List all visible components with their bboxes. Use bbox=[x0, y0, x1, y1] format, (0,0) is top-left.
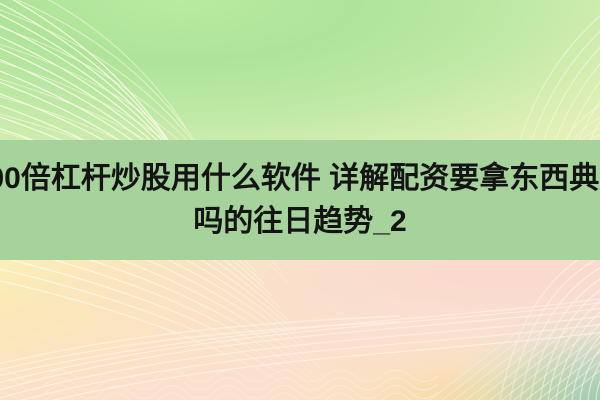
title-line-1: 400倍杠杆炒股用什么软件 详解配资要拿东西典质 bbox=[0, 157, 600, 200]
title-card-canvas: 400倍杠杆炒股用什么软件 详解配资要拿东西典质 吗的往日趋势_2 bbox=[0, 0, 600, 400]
title-band: 400倍杠杆炒股用什么软件 详解配资要拿东西典质 吗的往日趋势_2 bbox=[0, 140, 600, 260]
title-line-2: 吗的往日趋势_2 bbox=[193, 200, 406, 243]
background-teal-wedge bbox=[380, 290, 600, 400]
